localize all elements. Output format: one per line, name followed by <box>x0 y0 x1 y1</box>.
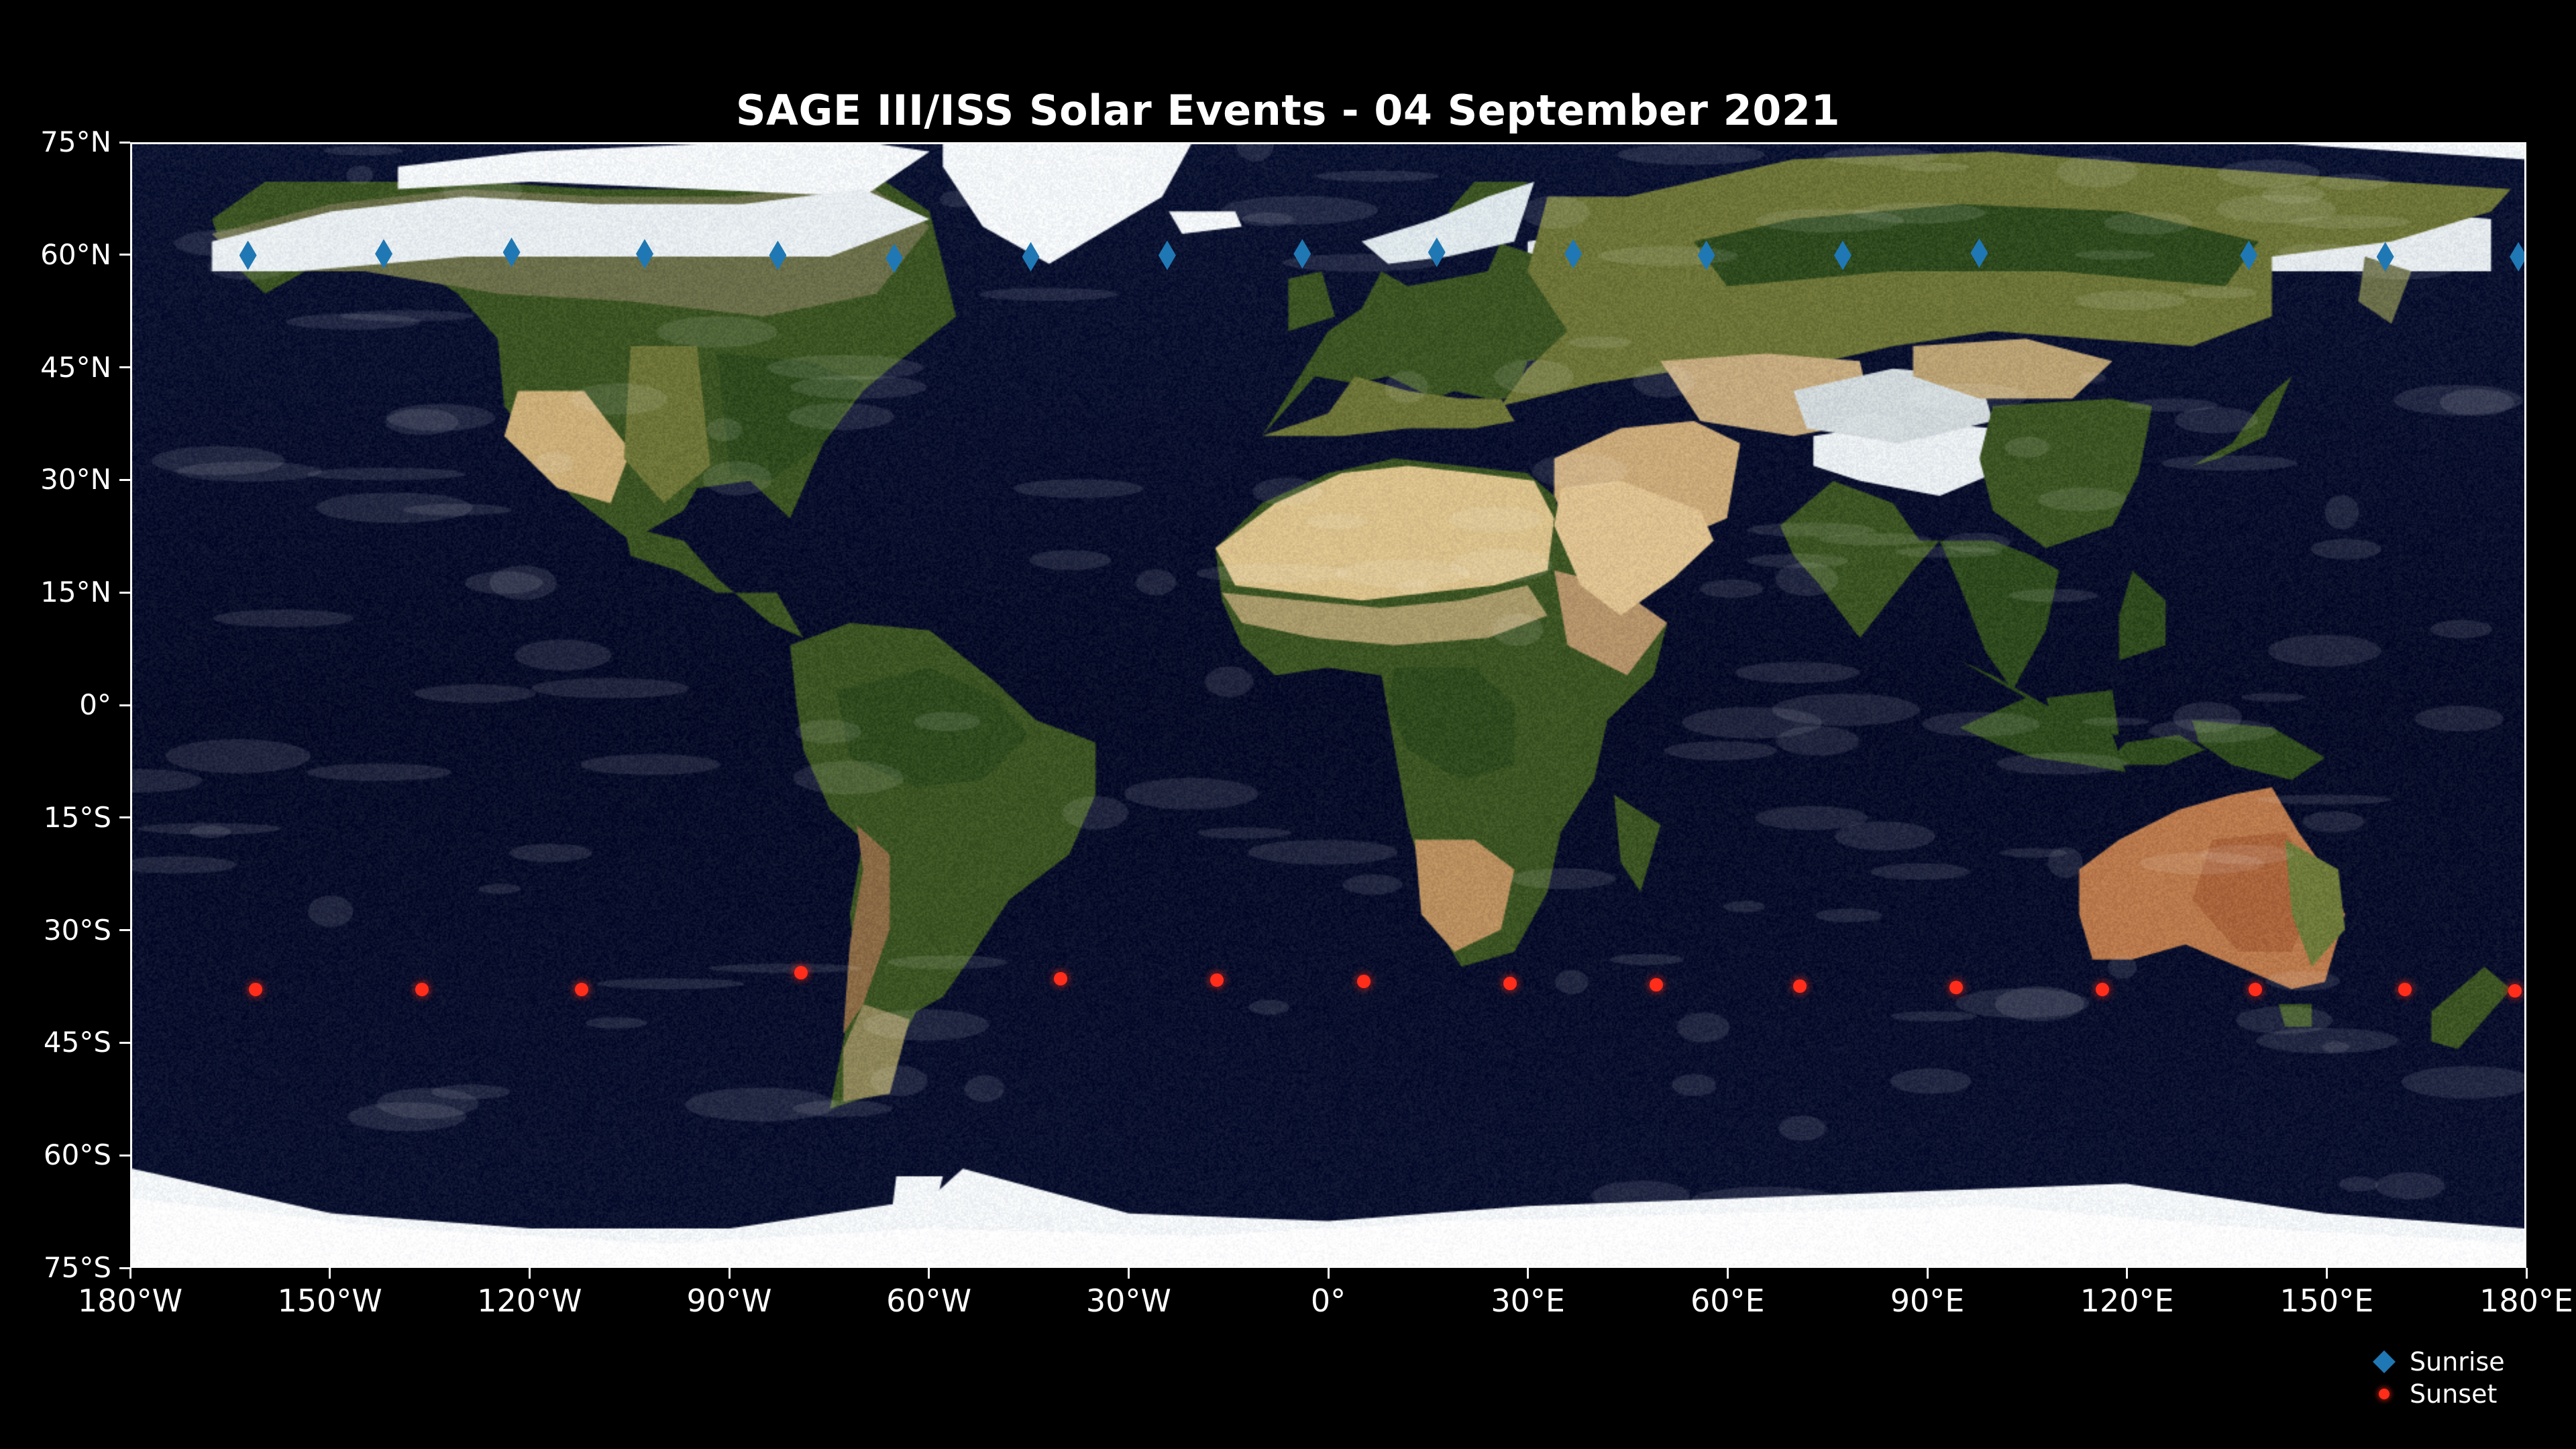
x-tick-mark <box>928 1268 930 1279</box>
sunset-marker[interactable] <box>1793 979 1807 993</box>
y-tick-mark <box>119 704 130 706</box>
y-tick-mark <box>119 1155 130 1157</box>
y-tick-label: 60°N <box>40 241 111 269</box>
x-tick-mark <box>1128 1268 1130 1279</box>
x-tick-mark <box>2326 1268 2328 1279</box>
world-basemap-image <box>132 144 2524 1266</box>
y-tick-label: 15°S <box>44 804 111 832</box>
x-tick-label: 60°E <box>1690 1285 1765 1316</box>
y-tick-label: 0° <box>79 691 111 719</box>
sunset-marker[interactable] <box>2398 983 2412 996</box>
legend: Sunrise Sunset <box>2359 1346 2560 1410</box>
y-tick-label: 15°N <box>40 578 111 606</box>
legend-label-sunset: Sunset <box>2410 1379 2497 1409</box>
sunset-marker[interactable] <box>249 983 262 996</box>
x-tick-label: 180°E <box>2479 1285 2573 1316</box>
figure-root: SAGE III/ISS Solar Events - 04 September… <box>0 0 2576 1449</box>
y-tick-label: 60°S <box>44 1141 111 1169</box>
x-tick-label: 60°W <box>886 1285 971 1316</box>
sunset-marker[interactable] <box>1357 975 1371 988</box>
legend-item-sunrise[interactable]: Sunrise <box>2359 1346 2560 1378</box>
page-title: SAGE III/ISS Solar Events - 04 September… <box>0 86 2576 135</box>
y-tick-mark <box>119 1042 130 1044</box>
legend-item-sunset[interactable]: Sunset <box>2359 1378 2560 1410</box>
sunset-marker[interactable] <box>1210 973 1224 987</box>
y-tick-label: 75°N <box>40 128 111 156</box>
x-tick-mark <box>129 1268 131 1279</box>
x-tick-label: 0° <box>1311 1285 1346 1316</box>
x-tick-label: 30°E <box>1491 1285 1565 1316</box>
y-tick-mark <box>119 254 130 256</box>
x-tick-mark <box>729 1268 731 1279</box>
sunset-marker[interactable] <box>1650 978 1663 991</box>
y-tick-label: 45°S <box>44 1028 111 1057</box>
y-tick-label: 75°S <box>44 1254 111 1282</box>
x-tick-label: 180°W <box>78 1285 182 1316</box>
x-tick-mark <box>1527 1268 1529 1279</box>
x-tick-label: 150°W <box>278 1285 382 1316</box>
legend-label-sunrise: Sunrise <box>2410 1347 2505 1377</box>
x-tick-mark <box>2126 1268 2128 1279</box>
sunset-marker[interactable] <box>1054 972 1067 985</box>
sunset-marker[interactable] <box>2249 983 2262 996</box>
sunset-marker[interactable] <box>1503 977 1517 990</box>
sunset-circle-icon <box>2359 1389 2410 1399</box>
sunset-marker[interactable] <box>575 983 588 996</box>
y-tick-mark <box>119 592 130 594</box>
x-tick-label: 150°E <box>2279 1285 2373 1316</box>
x-tick-label: 120°E <box>2080 1285 2174 1316</box>
y-tick-mark <box>119 816 130 818</box>
y-tick-mark <box>119 479 130 481</box>
x-tick-label: 120°W <box>477 1285 582 1316</box>
y-tick-label: 30°S <box>44 916 111 945</box>
y-tick-mark <box>119 142 130 144</box>
y-tick-mark <box>119 366 130 368</box>
x-tick-label: 90°E <box>1890 1285 1965 1316</box>
x-tick-mark <box>1927 1268 1929 1279</box>
sunrise-diamond-icon <box>2359 1354 2410 1370</box>
x-tick-mark <box>529 1268 531 1279</box>
y-tick-label: 45°N <box>40 354 111 382</box>
sunset-marker[interactable] <box>794 966 808 979</box>
x-tick-mark <box>1727 1268 1729 1279</box>
y-tick-label: 30°N <box>40 466 111 494</box>
sunset-marker[interactable] <box>2096 983 2109 996</box>
x-tick-label: 30°W <box>1086 1285 1171 1316</box>
x-tick-label: 90°W <box>686 1285 771 1316</box>
map-plot-area[interactable] <box>130 142 2526 1268</box>
x-tick-mark <box>329 1268 331 1279</box>
sunset-marker[interactable] <box>415 983 429 996</box>
sunset-marker[interactable] <box>1949 981 1963 994</box>
sunset-marker[interactable] <box>2508 984 2522 998</box>
x-tick-mark <box>1328 1268 1330 1279</box>
y-tick-mark <box>119 929 130 931</box>
x-tick-mark <box>2526 1268 2528 1279</box>
